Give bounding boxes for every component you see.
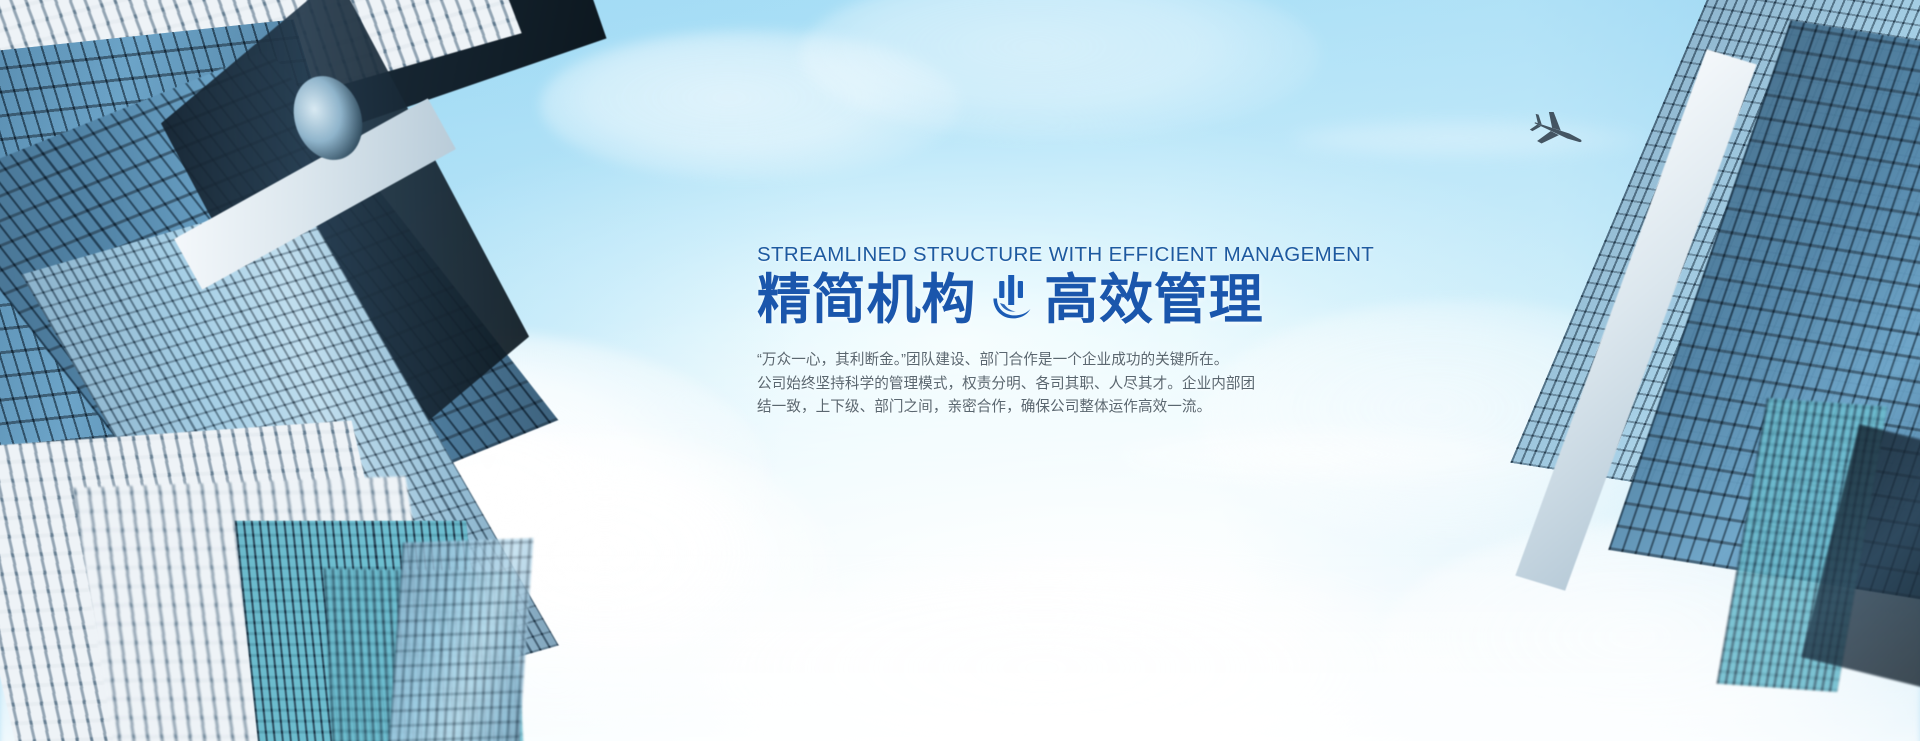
- airplane-icon: [1529, 112, 1587, 157]
- company-logo-mark-icon: [990, 274, 1032, 333]
- body-line: 公司始终坚持科学的管理模式，权责分明、各司其职、人尽其才。企业内部团: [757, 373, 1297, 397]
- body-line: “万众一心，其利断金。”团队建设、部门合作是一个企业成功的关键所在。: [757, 349, 1297, 373]
- hero-banner: STREAMLINED STRUCTURE WITH EFFICIENT MAN…: [0, 0, 1920, 741]
- body-line: 结一致，上下级、部门之间，亲密合作，确保公司整体运作高效一流。: [757, 396, 1297, 420]
- headline-left-text: 精简机构: [757, 271, 976, 329]
- banner-copy: STREAMLINED STRUCTURE WITH EFFICIENT MAN…: [757, 243, 1297, 420]
- banner-body-copy: “万众一心，其利断金。”团队建设、部门合作是一个企业成功的关键所在。 公司始终坚…: [757, 349, 1297, 420]
- headline-right-text: 高效管理: [1044, 271, 1263, 329]
- banner-eyebrow: STREAMLINED STRUCTURE WITH EFFICIENT MAN…: [757, 243, 1297, 267]
- banner-headline: 精简机构 高效管理: [757, 271, 1297, 330]
- building-far-right-low: [387, 538, 534, 741]
